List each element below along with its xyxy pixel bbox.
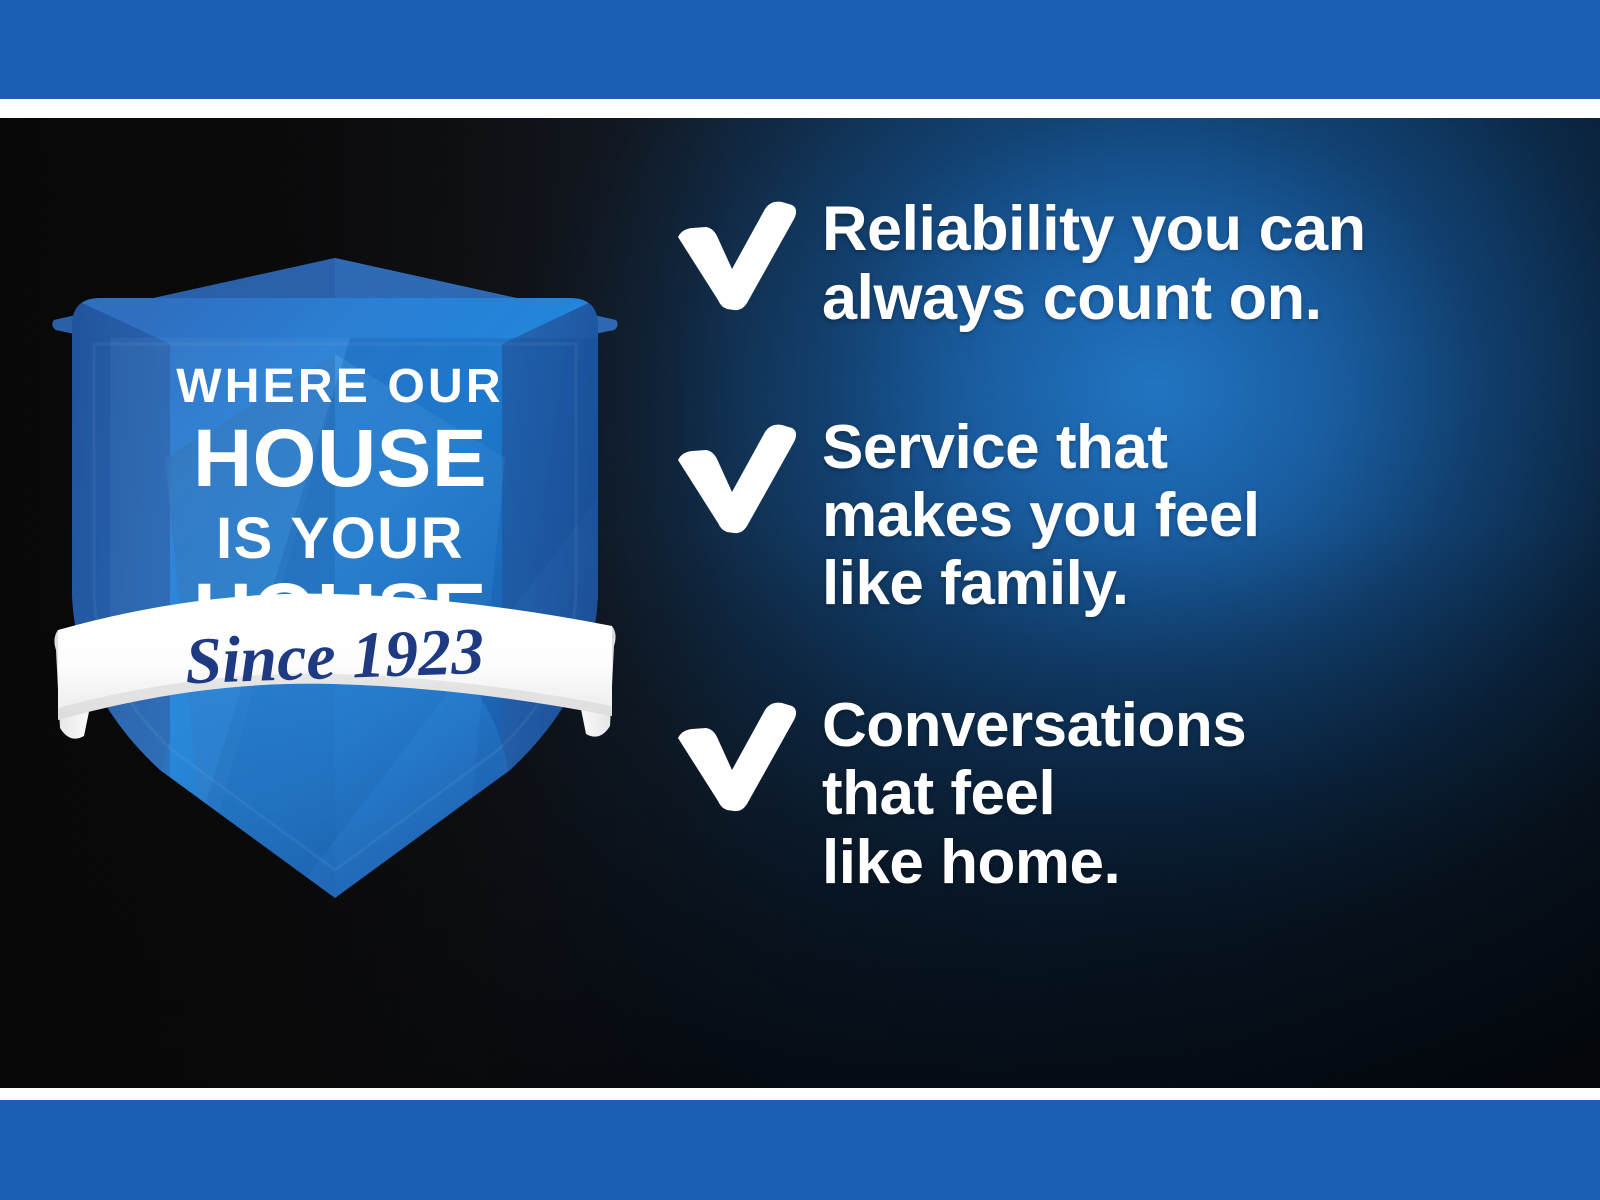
- bottom-white-divider: [0, 1088, 1600, 1100]
- check-icon: [672, 199, 800, 311]
- benefit-list: Reliability you can always count on. Ser…: [672, 193, 1532, 897]
- top-brand-bar: [0, 0, 1600, 99]
- list-item-label: Service that makes you feel like family.: [822, 412, 1260, 619]
- list-item-label: Conversations that feel like home.: [822, 690, 1246, 897]
- since-label: Since 1923: [184, 615, 485, 698]
- top-white-divider: [0, 99, 1600, 118]
- check-icon: [672, 422, 800, 534]
- shield-line-2: HOUSE: [193, 413, 487, 504]
- list-item: Conversations that feel like home.: [672, 690, 1532, 897]
- list-item: Service that makes you feel like family.: [672, 412, 1532, 619]
- list-item-label: Reliability you can always count on.: [822, 193, 1366, 334]
- shield-line-1: WHERE OUR: [176, 360, 503, 413]
- bottom-brand-bar: [0, 1100, 1600, 1200]
- shield-line-3: IS YOUR: [216, 506, 464, 571]
- shield-badge: WHERE OUR HOUSE IS YOUR HOUSE Since 1923: [50, 258, 620, 898]
- list-item: Reliability you can always count on.: [672, 193, 1532, 334]
- check-icon: [672, 700, 800, 812]
- promo-banner: WHERE OUR HOUSE IS YOUR HOUSE Since 1923: [0, 0, 1600, 1200]
- main-stage: WHERE OUR HOUSE IS YOUR HOUSE Since 1923: [0, 118, 1600, 1088]
